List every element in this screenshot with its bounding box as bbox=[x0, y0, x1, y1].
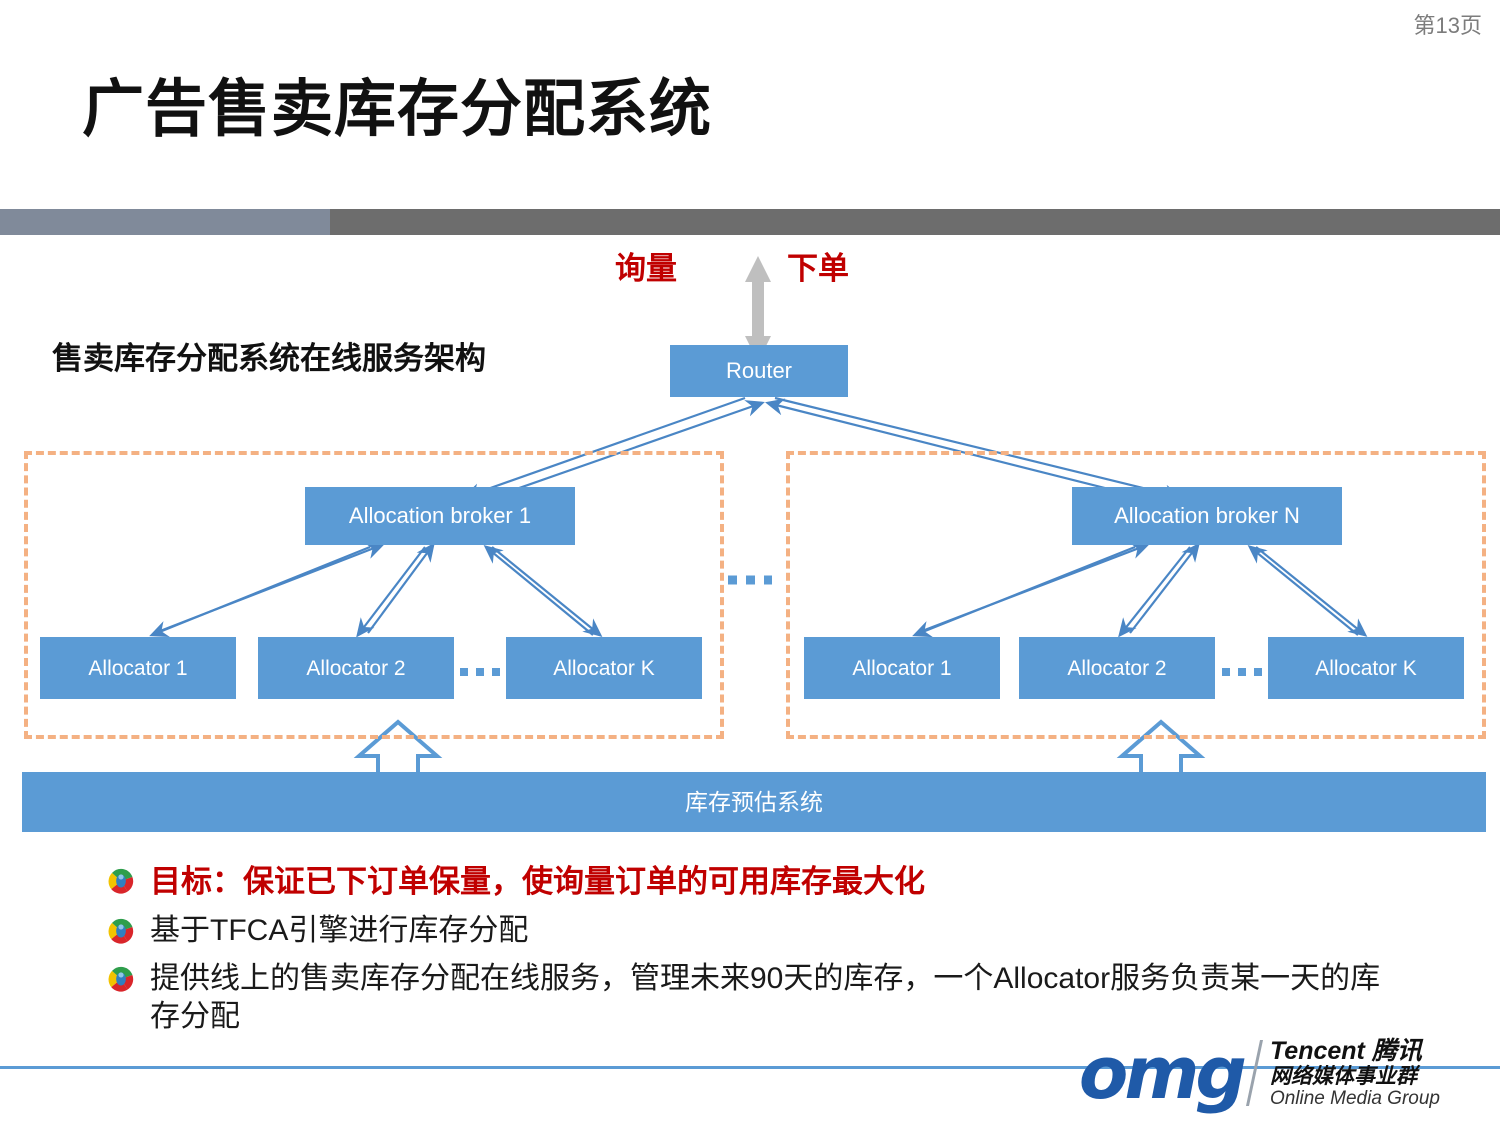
colored-circle-bullet-icon bbox=[108, 868, 134, 894]
node-allocation-broker-n[interactable]: Allocation broker N bbox=[1072, 487, 1342, 545]
node-router[interactable]: Router bbox=[670, 345, 848, 397]
colored-circle-bullet-icon bbox=[108, 966, 134, 992]
node-right-allocator-k[interactable]: Allocator K bbox=[1268, 637, 1464, 699]
node-left-allocator-2[interactable]: Allocator 2 bbox=[258, 637, 454, 699]
slide-root: 第13页 广告售卖库存分配系统 售卖库存分配系统在线服务架构 询量 下单 bbox=[0, 0, 1500, 1125]
page-title: 广告售卖库存分配系统 bbox=[82, 58, 712, 148]
list-item: 基于TFCA引擎进行库存分配 bbox=[108, 912, 1428, 950]
node-inventory-forecast-system[interactable]: 库存预估系统 bbox=[22, 772, 1486, 832]
footer-logo: omg Tencent 腾讯 网络媒体事业群 Online Media Grou… bbox=[1079, 1032, 1440, 1114]
list-item: 提供线上的售卖库存分配在线服务，管理未来90天的库存，一个Allocator服务… bbox=[108, 960, 1428, 1037]
node-right-allocator-1[interactable]: Allocator 1 bbox=[804, 637, 1000, 699]
bullet-text: 提供线上的售卖库存分配在线服务，管理未来90天的库存，一个Allocator服务… bbox=[150, 960, 1410, 1037]
architecture-diagram: Router Allocation broker 1 Allocator 1 A… bbox=[0, 235, 1500, 845]
header-band-right bbox=[330, 209, 1500, 235]
bullet-list: 目标：保证已下订单保量，使询量订单的可用库存最大化 基于TFCA引擎进行库存分配 bbox=[108, 862, 1428, 1047]
logo-divider bbox=[1246, 1040, 1263, 1106]
logo-line-cn: 网络媒体事业群 bbox=[1270, 1065, 1440, 1089]
page-number: 第13页 bbox=[1414, 8, 1482, 40]
bullet-text: 基于TFCA引擎进行库存分配 bbox=[150, 912, 528, 950]
logo-line-en: Online Media Group bbox=[1270, 1088, 1440, 1109]
logo-line-tencent: Tencent 腾讯 bbox=[1270, 1037, 1440, 1065]
node-left-allocator-1[interactable]: Allocator 1 bbox=[40, 637, 236, 699]
colored-circle-bullet-icon bbox=[108, 918, 134, 944]
node-allocation-broker-1[interactable]: Allocation broker 1 bbox=[305, 487, 575, 545]
header-band-left bbox=[0, 209, 330, 235]
list-item: 目标：保证已下订单保量，使询量订单的可用库存最大化 bbox=[108, 862, 1428, 902]
omg-logo-mark: omg bbox=[1079, 1037, 1243, 1109]
node-left-allocator-k[interactable]: Allocator K bbox=[506, 637, 702, 699]
logo-text-block: Tencent 腾讯 网络媒体事业群 Online Media Group bbox=[1270, 1037, 1440, 1110]
node-right-allocator-2[interactable]: Allocator 2 bbox=[1019, 637, 1215, 699]
bullet-text: 目标：保证已下订单保量，使询量订单的可用库存最大化 bbox=[150, 862, 925, 902]
